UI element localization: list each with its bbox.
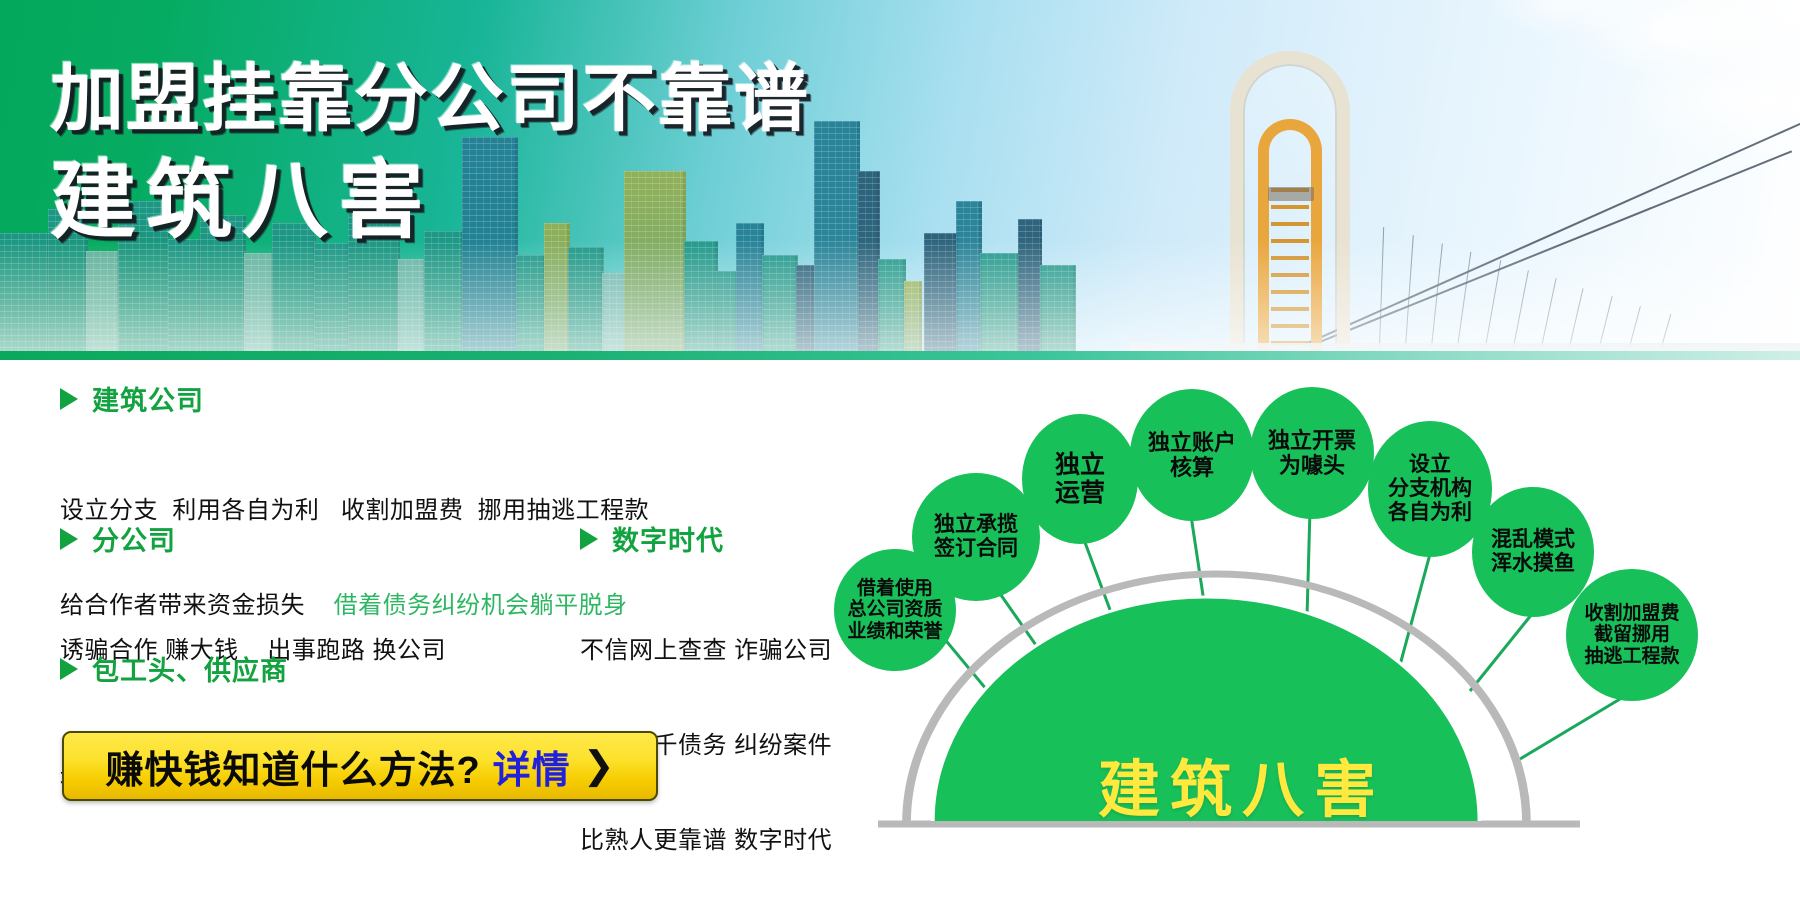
- bubble-line: 独立账户: [1148, 430, 1236, 455]
- bubble-line: 核算: [1170, 455, 1214, 480]
- bubble-4[interactable]: 独立账户 核算: [1130, 389, 1254, 521]
- bubble-line: 截留挪用: [1594, 624, 1670, 646]
- suspension-bridge-illustration: [1130, 31, 1800, 351]
- bubble-line: 收割加盟费: [1584, 603, 1679, 625]
- headline-line-2: 建筑八害: [50, 158, 810, 244]
- bubble-line: 浑水摸鱼: [1491, 552, 1575, 576]
- bubble-line: 业绩和荣誉: [847, 621, 942, 643]
- stem-6: [1400, 554, 1430, 665]
- bubble-5[interactable]: 独立开票 为噱头: [1250, 387, 1374, 519]
- triangle-right-icon: [60, 388, 78, 410]
- triangle-right-icon: [60, 658, 78, 680]
- banner-bottom-rule: [0, 351, 1800, 360]
- bubble-7[interactable]: 混乱模式 浑水摸鱼: [1472, 487, 1594, 617]
- bubble-line: 混乱模式: [1491, 528, 1575, 552]
- section-header: 包工头、供应商: [60, 649, 620, 688]
- bubble-line: 总公司资质: [847, 599, 942, 621]
- triangle-right-icon: [580, 528, 598, 550]
- banner-headline: 加盟挂靠分公司不靠谱 建筑八害: [50, 62, 810, 244]
- cta-detail-link[interactable]: 详情: [493, 739, 571, 794]
- bubble-line: 独立承揽: [934, 513, 1018, 537]
- cta-main-label: 赚快钱知道什么方法?: [105, 739, 480, 794]
- cta-button[interactable]: 赚快钱知道什么方法? 详情 ❯: [62, 731, 658, 801]
- bubble-line: 独立开票: [1268, 428, 1356, 453]
- bubble-line: 运营: [1055, 479, 1105, 508]
- bubble-line: 签订合同: [934, 537, 1018, 561]
- bubble-3[interactable]: 独立 运营: [1022, 414, 1138, 544]
- section-header: 建筑公司: [60, 379, 720, 418]
- eight-harms-diagram: 借着使用 总公司资质 业绩和荣誉 独立承揽 签订合同 独立 运营 独立账户 核算…: [820, 369, 1800, 844]
- section-title: 包工头、供应商: [92, 649, 288, 688]
- stem-7: [1470, 614, 1532, 691]
- triangle-right-icon: [60, 528, 78, 550]
- section-title: 建筑公司: [92, 379, 204, 418]
- section-title: 分公司: [92, 519, 176, 558]
- section-header: 分公司: [60, 519, 520, 558]
- content-area: 建筑公司 设立分支 利用各自为利 收割加盟费 挪用抽逃工程款 给合作者带来资金损…: [0, 369, 1800, 844]
- chevron-right-icon: ❯: [583, 747, 615, 785]
- stem-8: [1520, 699, 1620, 759]
- arch-center-label: 建筑八害: [1098, 739, 1386, 829]
- bubble-line: 设立: [1409, 453, 1451, 477]
- bubble-line: 各自为利: [1388, 501, 1472, 525]
- bubble-line: 抽逃工程款: [1584, 646, 1679, 668]
- bubble-line: 为噱头: [1279, 453, 1345, 478]
- bubble-2[interactable]: 独立承揽 签订合同: [912, 473, 1040, 601]
- bubble-line: 独立: [1055, 451, 1105, 480]
- bubble-line: 借着使用: [857, 578, 933, 600]
- hero-banner: 加盟挂靠分公司不靠谱 建筑八害: [0, 0, 1800, 360]
- bubble-line: 分支机构: [1388, 477, 1472, 501]
- bubble-8[interactable]: 收割加盟费 截留挪用 抽逃工程款: [1566, 569, 1698, 701]
- section-title: 数字时代: [612, 519, 724, 558]
- headline-line-1: 加盟挂靠分公司不靠谱: [50, 62, 810, 136]
